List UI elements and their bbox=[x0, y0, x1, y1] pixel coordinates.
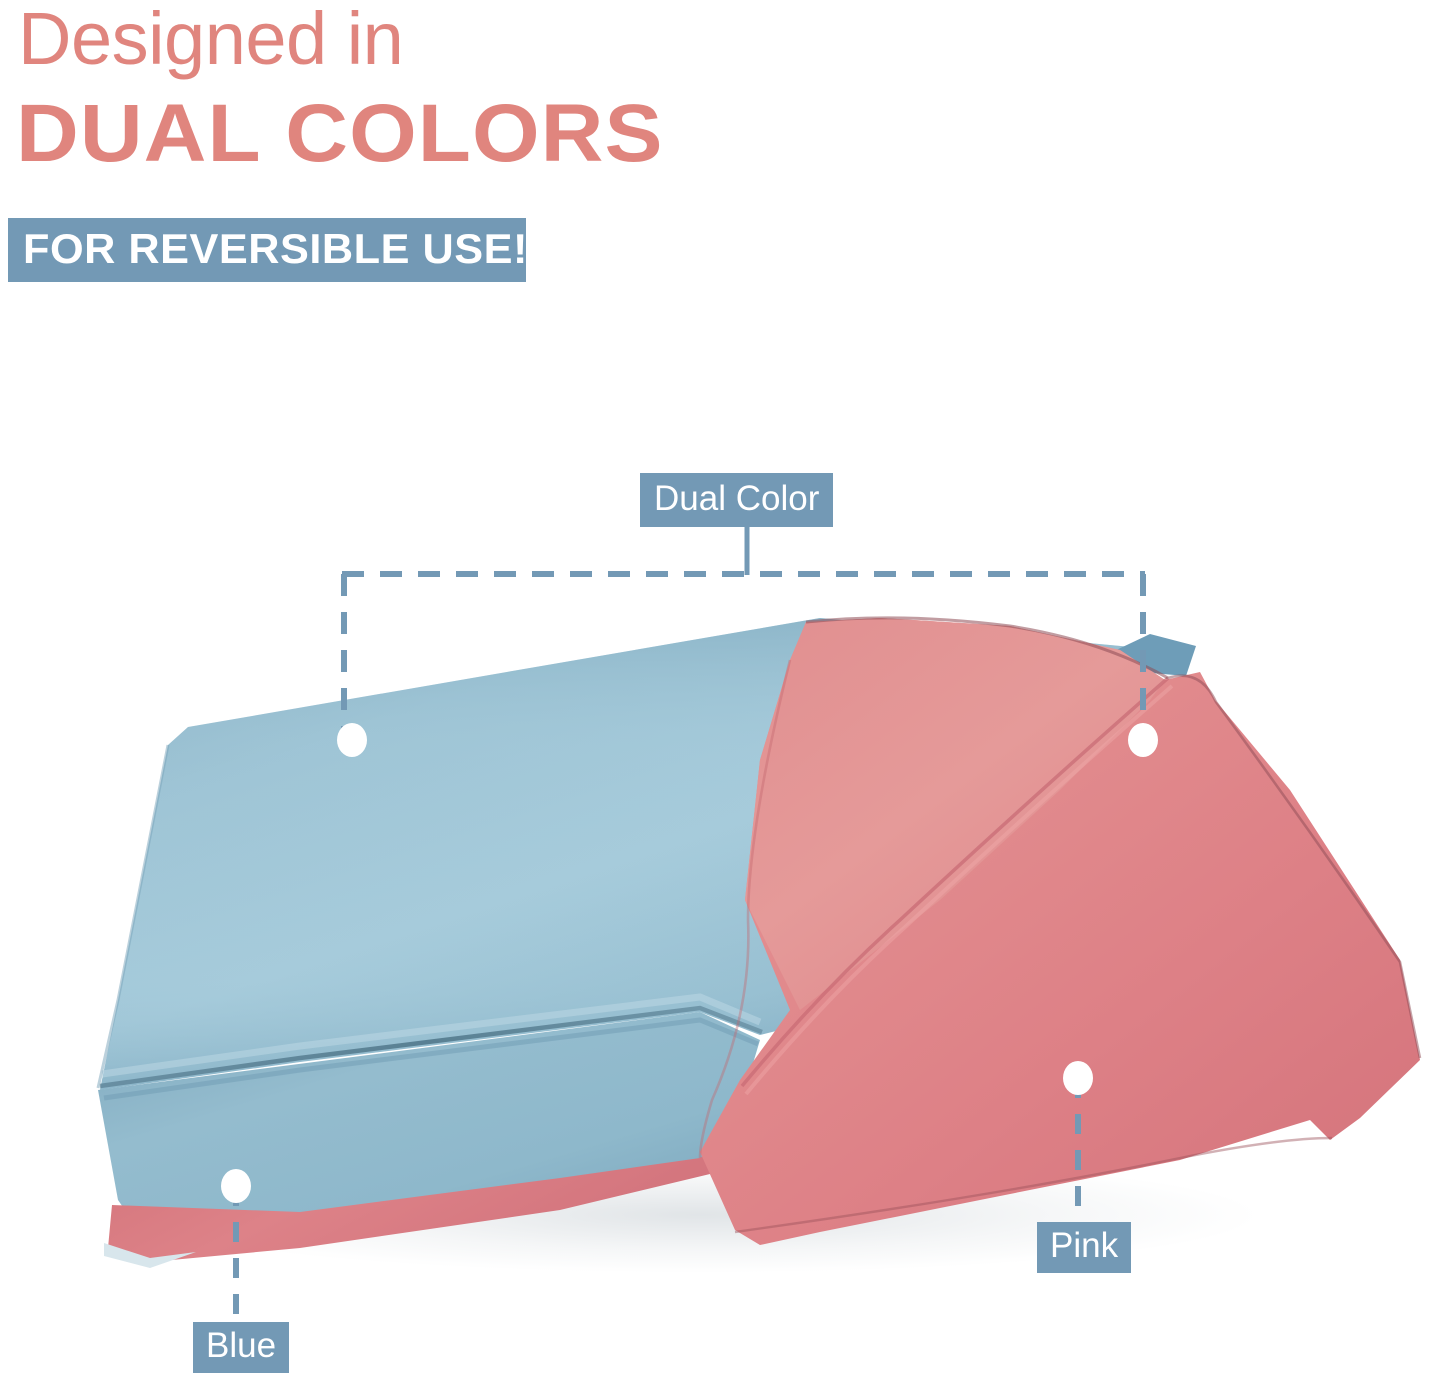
fabric-pink-right-edge bbox=[1168, 676, 1420, 1058]
callout-badge-pink: Pink bbox=[1037, 1222, 1131, 1273]
fabric-blue-peek-sliver bbox=[1112, 634, 1196, 676]
fabric-blue-upper-panel bbox=[100, 618, 1160, 1090]
product-illustration-stage bbox=[0, 0, 1445, 1375]
marker-dot-pink-dualcolor bbox=[1128, 723, 1158, 757]
fabric-pink-bottom-edge bbox=[735, 1138, 1332, 1232]
fabric-blue-lower-band bbox=[98, 1012, 760, 1232]
subheadline-text: FOR REVERSIBLE USE! bbox=[23, 227, 528, 271]
fabric-fold-highlight bbox=[102, 997, 760, 1074]
marker-dot-pink bbox=[1063, 1061, 1093, 1095]
fabric-blue-left-edge bbox=[98, 745, 168, 1088]
headline-line-2: DUAL COLORS bbox=[16, 88, 663, 180]
callout-label-blue: Blue bbox=[206, 1326, 276, 1365]
fabric-pink-crease-highlight bbox=[746, 686, 1172, 1094]
marker-dot-blue bbox=[221, 1169, 251, 1203]
callout-label-dual-color: Dual Color bbox=[654, 479, 819, 518]
fabric-pink-top-edge bbox=[806, 618, 1168, 678]
fabric-pink-edge-strip bbox=[108, 1130, 742, 1262]
fabric-blue-upper-shading bbox=[100, 618, 1160, 1090]
fabric-pink-flap-upper bbox=[745, 618, 1165, 1010]
callout-label-pink: Pink bbox=[1050, 1226, 1118, 1265]
infographic-page: Designed in DUAL COLORS FOR REVERSIBLE U… bbox=[0, 0, 1445, 1375]
marker-dot-blue-dualcolor bbox=[337, 723, 367, 757]
fabric-fold-shadow bbox=[104, 1020, 758, 1098]
subheadline-badge: FOR REVERSIBLE USE! bbox=[8, 218, 526, 282]
fabric-pink-diagonal-crease bbox=[742, 678, 1168, 1086]
headline-line-1: Designed in bbox=[18, 0, 403, 82]
callout-badge-blue: Blue bbox=[193, 1322, 289, 1373]
fabric-pink-left-edge bbox=[700, 660, 790, 1158]
callout-badge-dual-color: Dual Color bbox=[640, 473, 833, 527]
fabric-pink-flap bbox=[700, 618, 1420, 1245]
fabric-fold-crease bbox=[100, 1008, 762, 1086]
product-illustration bbox=[0, 0, 1445, 1375]
fabric-corner-sliver bbox=[104, 1243, 196, 1268]
